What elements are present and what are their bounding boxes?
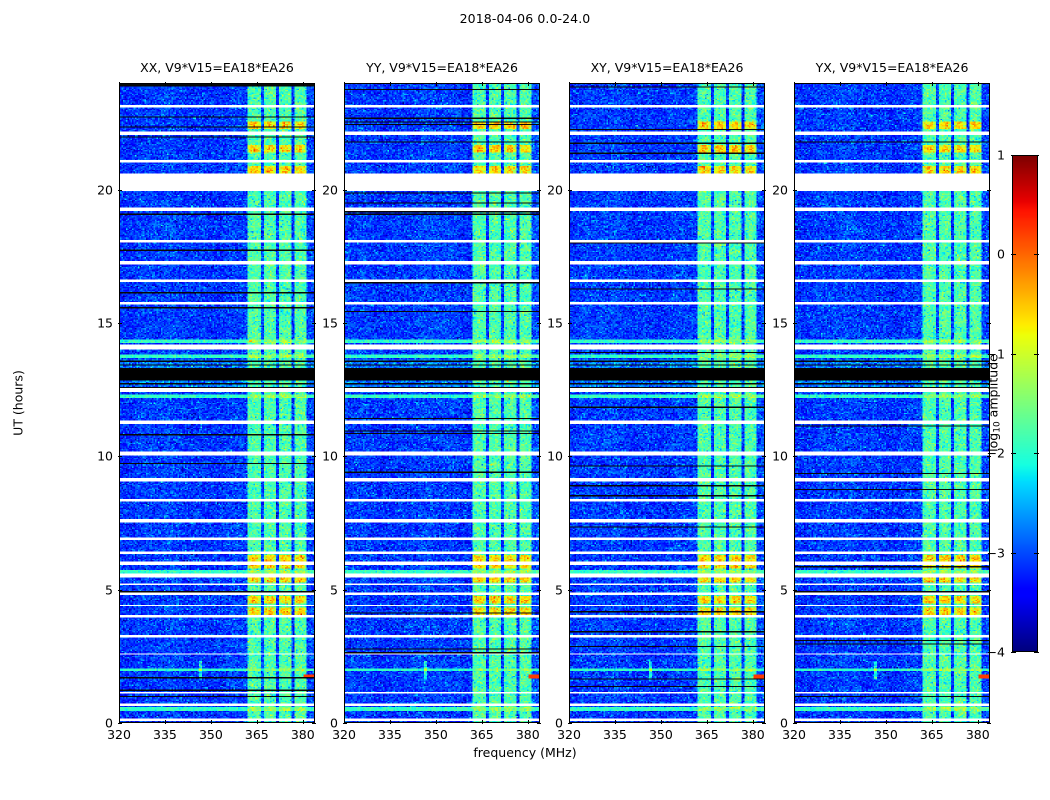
colorbar-tick	[1011, 453, 1016, 454]
panel-yy: YY, V9*V15=EA18*EA2632033535036538005101…	[344, 83, 540, 723]
x-tick-label: 365	[920, 727, 944, 742]
x-tick-label: 350	[874, 727, 898, 742]
panel-title-xy: XY, V9*V15=EA18*EA26	[591, 60, 744, 75]
y-tick	[343, 723, 347, 724]
colorbar-label-suffix: amplitude	[985, 354, 1000, 421]
waterfall-image-yy[interactable]	[344, 83, 540, 723]
y-tick	[762, 456, 766, 457]
y-tick	[762, 590, 766, 591]
x-tick	[344, 82, 345, 86]
y-tick-label: 20	[322, 182, 338, 197]
y-tick-label: 15	[772, 316, 788, 331]
x-tick-label: 335	[153, 727, 177, 742]
panel-title-yy: YY, V9*V15=EA18*EA26	[366, 60, 518, 75]
x-tick	[303, 720, 304, 724]
y-tick	[568, 456, 572, 457]
x-tick	[257, 82, 258, 86]
x-tick	[615, 82, 616, 86]
x-tick	[661, 82, 662, 86]
y-tick	[568, 590, 572, 591]
y-tick	[762, 723, 766, 724]
y-tick	[343, 456, 347, 457]
y-tick	[987, 590, 991, 591]
x-tick-label: 365	[695, 727, 719, 742]
x-tick	[794, 82, 795, 86]
dynamic-spectrum-canvas	[345, 84, 539, 722]
colorbar-gradient	[1012, 155, 1038, 652]
figure-suptitle: 2018-04-06 0.0-24.0	[0, 11, 1050, 26]
y-tick	[793, 723, 797, 724]
y-tick	[118, 323, 122, 324]
x-tick	[436, 720, 437, 724]
y-tick-label: 10	[97, 449, 113, 464]
colorbar-tick	[1011, 553, 1016, 554]
panel-title-yx: YX, V9*V15=EA18*EA26	[816, 60, 969, 75]
y-tick	[568, 323, 572, 324]
x-tick	[707, 82, 708, 86]
y-tick	[343, 323, 347, 324]
waterfall-image-xy[interactable]	[569, 83, 765, 723]
waterfall-image-yx[interactable]	[794, 83, 990, 723]
y-tick	[537, 323, 541, 324]
panel-title-xx: XX, V9*V15=EA18*EA26	[140, 60, 294, 75]
x-tick-label: 350	[424, 727, 448, 742]
x-tick	[932, 720, 933, 724]
panel-xx: XX, V9*V15=EA18*EA2632033535036538005101…	[119, 83, 315, 723]
y-tick-label: 20	[97, 182, 113, 197]
x-tick-label: 365	[470, 727, 494, 742]
x-tick	[303, 82, 304, 86]
x-tick	[840, 720, 841, 724]
y-tick	[987, 190, 991, 191]
y-tick	[793, 190, 797, 191]
x-tick	[615, 720, 616, 724]
x-tick	[528, 720, 529, 724]
colorbar-tick	[1011, 155, 1016, 156]
x-tick-label: 380	[516, 727, 540, 742]
y-tick-label: 5	[330, 582, 338, 597]
colorbar-tick	[1034, 354, 1039, 355]
x-tick	[211, 82, 212, 86]
x-tick	[569, 82, 570, 86]
y-tick-label: 10	[547, 449, 563, 464]
x-tick	[165, 720, 166, 724]
y-tick-label: 15	[322, 316, 338, 331]
panel-yx: YX, V9*V15=EA18*EA2632033535036538005101…	[794, 83, 990, 723]
y-tick	[762, 190, 766, 191]
colorbar[interactable]: −4−3−2−101	[1012, 155, 1038, 652]
x-tick	[528, 82, 529, 86]
y-tick-label: 20	[772, 182, 788, 197]
x-tick	[482, 720, 483, 724]
y-tick	[312, 190, 316, 191]
y-tick	[762, 323, 766, 324]
colorbar-tick	[1034, 453, 1039, 454]
x-tick-label: 335	[828, 727, 852, 742]
y-tick	[343, 190, 347, 191]
y-tick	[793, 456, 797, 457]
colorbar-tick	[1011, 652, 1016, 653]
colorbar-tick-label: −3	[987, 545, 1005, 560]
y-tick	[118, 590, 122, 591]
waterfall-image-xx[interactable]	[119, 83, 315, 723]
colorbar-tick	[1034, 254, 1039, 255]
x-tick	[390, 82, 391, 86]
y-tick-label: 5	[105, 582, 113, 597]
x-tick	[753, 82, 754, 86]
x-tick-label: 350	[649, 727, 673, 742]
colorbar-label-subscript: 10	[993, 421, 1003, 432]
y-tick	[312, 456, 316, 457]
x-tick	[211, 720, 212, 724]
y-tick-label: 0	[105, 716, 113, 731]
figure: 2018-04-06 0.0-24.0 XX, V9*V15=EA18*EA26…	[0, 0, 1050, 800]
y-axis-label: UT (hours)	[11, 370, 26, 436]
y-tick	[537, 590, 541, 591]
x-tick-label: 350	[199, 727, 223, 742]
y-tick	[312, 323, 316, 324]
x-tick	[436, 82, 437, 86]
panel-xy: XY, V9*V15=EA18*EA2632033535036538005101…	[569, 83, 765, 723]
x-tick	[707, 720, 708, 724]
x-tick-label: 380	[966, 727, 990, 742]
y-tick	[343, 590, 347, 591]
y-tick-label: 15	[97, 316, 113, 331]
x-tick	[165, 82, 166, 86]
y-tick	[312, 723, 316, 724]
y-tick-label: 0	[555, 716, 563, 731]
y-tick-label: 10	[322, 449, 338, 464]
y-tick-label: 5	[780, 582, 788, 597]
x-tick	[753, 720, 754, 724]
x-tick	[840, 82, 841, 86]
colorbar-tick-label: 1	[997, 148, 1005, 163]
x-tick	[978, 82, 979, 86]
colorbar-tick	[1011, 254, 1016, 255]
y-tick	[568, 190, 572, 191]
y-tick	[118, 723, 122, 724]
y-tick	[312, 590, 316, 591]
colorbar-tick	[1034, 652, 1039, 653]
y-tick	[568, 723, 572, 724]
y-tick-label: 0	[330, 716, 338, 731]
colorbar-label: log10 amplitude	[985, 354, 1002, 452]
colorbar-tick	[1034, 155, 1039, 156]
colorbar-tick	[1011, 354, 1016, 355]
x-tick-label: 335	[603, 727, 627, 742]
y-tick	[793, 590, 797, 591]
y-tick	[793, 323, 797, 324]
y-tick-label: 20	[547, 182, 563, 197]
y-tick-label: 5	[555, 582, 563, 597]
y-tick	[118, 190, 122, 191]
x-tick-label: 365	[245, 727, 269, 742]
x-tick	[257, 720, 258, 724]
x-tick	[482, 82, 483, 86]
y-tick-label: 15	[547, 316, 563, 331]
dynamic-spectrum-canvas	[795, 84, 989, 722]
x-tick	[978, 720, 979, 724]
colorbar-tick-label: 0	[997, 247, 1005, 262]
x-tick	[886, 82, 887, 86]
y-tick-label: 10	[772, 449, 788, 464]
y-tick	[987, 723, 991, 724]
y-tick	[118, 456, 122, 457]
dynamic-spectrum-canvas	[120, 84, 314, 722]
colorbar-label-prefix: log	[985, 433, 1000, 452]
y-tick-label: 0	[780, 716, 788, 731]
x-tick-label: 380	[741, 727, 765, 742]
x-tick-label: 380	[291, 727, 315, 742]
y-tick	[537, 190, 541, 191]
x-axis-label: frequency (MHz)	[0, 745, 1050, 760]
colorbar-tick	[1034, 553, 1039, 554]
dynamic-spectrum-canvas	[570, 84, 764, 722]
y-tick	[537, 456, 541, 457]
x-tick	[932, 82, 933, 86]
x-tick	[886, 720, 887, 724]
y-tick	[537, 723, 541, 724]
y-tick	[987, 323, 991, 324]
x-tick-label: 335	[378, 727, 402, 742]
x-tick	[119, 82, 120, 86]
colorbar-tick-label: −4	[987, 645, 1005, 660]
x-tick	[390, 720, 391, 724]
x-tick	[661, 720, 662, 724]
